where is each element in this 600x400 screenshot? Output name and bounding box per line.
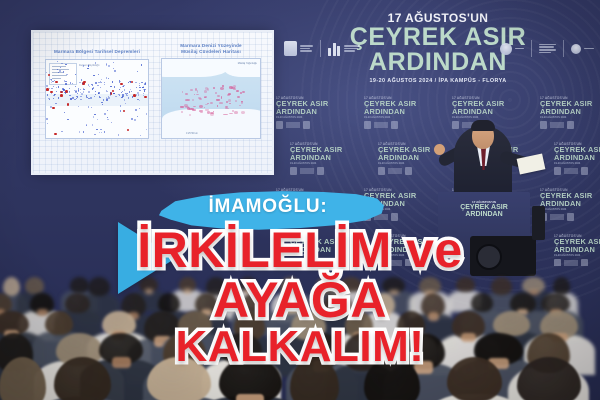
news-thumbnail-image: 17 AĞUSTOS'UNÇEYREK ASIRARDINDAN19-20 AĞ… xyxy=(0,0,600,400)
earthquake-point xyxy=(75,86,76,87)
earthquake-point xyxy=(108,97,109,98)
musilaj-point xyxy=(199,105,203,108)
earthquake-point xyxy=(104,84,105,85)
earthquake-point xyxy=(146,113,147,114)
earthquake-point xyxy=(101,132,102,133)
earthquake-point xyxy=(79,131,80,132)
backdrop-tile: 17 AĞUSTOS'UNÇEYREK ASIRARDINDAN19-20 AĞ… xyxy=(290,142,386,175)
earthquake-point xyxy=(112,90,115,93)
earthquake-point xyxy=(120,110,121,111)
earthquake-point xyxy=(135,109,136,110)
earthquake-point xyxy=(46,118,47,119)
earthquake-point xyxy=(94,96,95,97)
earthquake-point xyxy=(58,86,59,87)
earthquake-point xyxy=(124,89,125,90)
musilaj-point xyxy=(192,99,194,101)
earthquake-point xyxy=(131,91,132,92)
earthquake-point xyxy=(106,98,107,99)
earthquake-point xyxy=(59,70,60,71)
earthquake-point xyxy=(143,95,144,96)
earthquake-point xyxy=(110,86,111,87)
projection-screen: Marmara Bölgesi Tarihsel Depremleri Depr… xyxy=(33,32,272,173)
earthquake-point xyxy=(94,134,95,135)
musilaj-point xyxy=(241,111,245,114)
earthquake-point xyxy=(55,103,56,104)
musilaj-point xyxy=(234,111,238,114)
earthquake-point xyxy=(137,71,138,72)
earthquake-point xyxy=(124,99,125,100)
backdrop-tile: 17 AĞUSTOS'UNÇEYREK ASIRARDINDAN19-20 AĞ… xyxy=(276,96,372,129)
musilaj-point xyxy=(192,109,196,111)
musilaj-point xyxy=(204,90,207,93)
earthquake-point xyxy=(114,70,115,71)
ipa-logo xyxy=(284,41,313,56)
speaker-right-hand xyxy=(434,144,445,155)
headline-line2: AYAĞA xyxy=(0,276,600,326)
earthquake-point xyxy=(139,100,140,101)
earthquake-point xyxy=(118,94,119,95)
earthquake-point xyxy=(139,90,140,91)
cevre-logo xyxy=(571,44,594,54)
earthquake-point xyxy=(60,94,63,97)
musilaj-point xyxy=(217,95,220,97)
earthquake-point xyxy=(46,88,49,91)
musilaj-point xyxy=(198,97,202,99)
left-panel-title: Marmara Bölgesi Tarihsel Depremleri xyxy=(45,49,149,55)
earthquake-point xyxy=(134,119,135,120)
earthquake-point xyxy=(78,89,79,90)
earthquake-point xyxy=(63,71,64,72)
right-logo-group xyxy=(500,40,594,57)
earthquake-point xyxy=(120,81,121,82)
earthquake-point xyxy=(98,82,99,83)
earthquake-point xyxy=(80,99,81,100)
earthquake-point xyxy=(55,81,58,84)
historical-earthquakes-map: Deprem Büyüklüğü xyxy=(45,59,149,139)
earthquake-point xyxy=(122,91,123,92)
earthquake-point xyxy=(86,124,87,125)
earthquake-point xyxy=(54,94,55,95)
earthquake-point xyxy=(141,82,142,83)
earthquake-point xyxy=(94,114,95,115)
earthquake-point xyxy=(47,123,48,124)
earthquake-point xyxy=(106,99,107,100)
earthquake-point xyxy=(54,133,57,136)
earthquake-point xyxy=(58,97,59,98)
earthquake-point xyxy=(104,131,105,132)
earthquake-point xyxy=(61,63,62,64)
earthquake-point xyxy=(108,65,109,66)
marmara-belediyeler-birligi-logo xyxy=(328,41,360,56)
event-subtitle: 19-20 AĞUSTOS 2024 / İPA KAMPÜS - FLORYA xyxy=(276,78,600,84)
earthquake-point xyxy=(131,81,134,84)
earthquake-point xyxy=(88,98,89,99)
ibb-logo xyxy=(500,43,524,55)
earthquake-point xyxy=(120,87,121,88)
earthquake-point xyxy=(114,86,115,87)
earthquake-point xyxy=(46,85,47,86)
earthquake-point xyxy=(129,91,130,92)
earthquake-point xyxy=(127,129,130,132)
logo-divider xyxy=(320,40,321,57)
earthquake-point xyxy=(148,111,149,112)
earthquake-point xyxy=(95,91,96,92)
earthquake-point xyxy=(112,81,113,82)
logo-divider xyxy=(531,40,532,57)
right-panel-title-line2: Müsilaj Cüvdeleri Haritası xyxy=(161,49,261,55)
earthquake-point xyxy=(65,83,66,84)
earthquake-point xyxy=(90,97,91,98)
musilaj-point xyxy=(182,91,184,93)
map-note: Deprem Büyüklüğü xyxy=(79,64,99,67)
earthquake-point xyxy=(113,68,114,69)
earthquake-point xyxy=(52,81,53,82)
earthquake-point xyxy=(118,134,119,135)
logo-divider xyxy=(563,40,564,57)
earthquake-point xyxy=(131,118,132,119)
earthquake-point xyxy=(87,68,88,69)
earthquake-point xyxy=(107,110,108,111)
audience-member-neck xyxy=(236,394,264,400)
earthquake-point xyxy=(88,65,89,66)
earthquake-point xyxy=(101,82,102,83)
earthquake-point xyxy=(113,62,114,63)
headline-line3: KALKALIM! xyxy=(0,325,600,369)
earthquake-point xyxy=(104,82,105,83)
speaker-hair xyxy=(471,120,495,131)
earthquake-point xyxy=(100,129,101,130)
musilaj-point xyxy=(216,99,220,100)
earthquake-point xyxy=(61,91,62,92)
earthquake-point xyxy=(120,105,121,106)
earthquake-point xyxy=(106,77,107,78)
map-scale-label: 0 25 50 km xyxy=(186,132,198,135)
musilaj-point xyxy=(185,99,190,101)
earthquake-point xyxy=(98,92,99,93)
earthquake-point xyxy=(50,91,53,94)
earthquake-point xyxy=(97,85,98,86)
earthquake-point xyxy=(104,113,105,114)
earthquake-point xyxy=(138,94,139,95)
slide-left-panel: Marmara Bölgesi Tarihsel Depremleri Depr… xyxy=(45,49,149,139)
earthquake-point xyxy=(101,79,102,80)
earthquake-point xyxy=(51,88,52,89)
musilaj-point xyxy=(226,101,228,103)
earthquake-point xyxy=(144,90,145,91)
earthquake-point xyxy=(99,96,100,97)
earthquake-point xyxy=(145,83,146,84)
earthquake-point xyxy=(135,82,136,83)
earthquake-point xyxy=(106,63,107,64)
earthquake-point xyxy=(91,107,92,108)
earthquake-point xyxy=(120,83,123,86)
headline-line1: İRKİLELİM ve xyxy=(0,226,600,276)
earthquake-point xyxy=(106,91,107,92)
earthquake-point xyxy=(95,62,96,63)
earthquake-point xyxy=(99,132,100,133)
earthquake-point xyxy=(133,94,136,97)
backdrop-tile: 17 AĞUSTOS'UNÇEYREK ASIRARDINDAN19-20 AĞ… xyxy=(554,142,600,175)
earthquake-point xyxy=(81,79,82,80)
earthquake-point xyxy=(76,96,77,97)
earthquake-point xyxy=(107,119,108,120)
earthquake-point xyxy=(79,82,80,83)
musilaj-point xyxy=(228,93,231,95)
musilaj-point xyxy=(205,87,209,90)
musilaj-point xyxy=(199,110,203,112)
earthquake-point xyxy=(78,106,79,107)
earthquake-point xyxy=(139,108,140,109)
musilaj-point xyxy=(207,111,210,113)
musilaj-point xyxy=(225,108,229,109)
earthquake-point xyxy=(83,88,84,89)
earthquake-point xyxy=(48,98,49,99)
earthquake-point xyxy=(46,72,47,73)
earthquake-point xyxy=(98,74,99,75)
earthquake-point xyxy=(72,97,73,98)
earthquake-point xyxy=(62,88,63,89)
slide-right-panel: Marmara Denizi Yüzeyinde Müsilaj Cüvdele… xyxy=(161,43,261,139)
earthquake-point xyxy=(61,131,62,132)
earthquake-point xyxy=(146,129,147,130)
musilaj-density-map: Müsilaj Yoğunluğu 0 25 50 km xyxy=(161,58,261,139)
musilaj-point xyxy=(185,93,187,95)
earthquake-point xyxy=(77,93,78,94)
earthquake-point xyxy=(64,112,65,113)
earthquake-point xyxy=(148,128,149,131)
earthquake-point xyxy=(49,88,50,89)
musilaj-point xyxy=(229,86,234,89)
earthquake-point xyxy=(80,96,81,97)
earthquake-point xyxy=(115,96,116,97)
earthquake-point xyxy=(92,124,93,125)
musilaj-point xyxy=(205,109,209,111)
earthquake-point xyxy=(123,86,124,87)
earthquake-point xyxy=(95,82,96,83)
earthquake-point xyxy=(67,119,68,120)
earthquake-point xyxy=(93,87,94,88)
earthquake-point xyxy=(139,87,140,88)
earthquake-point xyxy=(88,106,89,107)
earthquake-point xyxy=(137,116,138,117)
istanbul-planlama-ajansi-logo xyxy=(539,44,556,54)
earthquake-point xyxy=(130,89,131,90)
headline-overlay: İRKİLELİM ve AYAĞA KALKALIM! xyxy=(0,226,600,369)
earthquake-point xyxy=(108,78,109,79)
earthquake-point xyxy=(119,89,120,90)
earthquake-point xyxy=(100,87,101,88)
earthquake-point xyxy=(66,74,67,75)
musilaj-point xyxy=(210,102,213,104)
earthquake-point xyxy=(92,84,93,85)
left-logo-group xyxy=(284,40,360,57)
earthquake-point xyxy=(140,135,141,136)
earthquake-point xyxy=(89,86,90,87)
earthquake-point xyxy=(74,99,75,100)
earthquake-point xyxy=(52,107,55,110)
earthquake-point xyxy=(83,81,86,84)
event-branding-header: 17 AĞUSTOS'UN ÇEYREK ASIR ARDINDAN 19-20… xyxy=(276,0,600,96)
earthquake-point xyxy=(56,91,57,92)
earthquake-point xyxy=(70,82,71,83)
earthquake-point xyxy=(88,91,89,92)
earthquake-point xyxy=(47,94,48,95)
earthquake-point xyxy=(111,122,112,123)
earthquake-point xyxy=(81,93,82,94)
earthquake-point xyxy=(53,86,54,87)
map-corner-label: Müsilaj Yoğunluğu xyxy=(238,62,257,65)
earthquake-point xyxy=(110,94,111,95)
earthquake-point xyxy=(83,131,84,132)
earthquake-point xyxy=(93,116,94,117)
earthquake-point xyxy=(93,75,94,76)
earthquake-point xyxy=(96,129,97,130)
earthquake-point xyxy=(107,117,108,118)
speaker-label: İMAMOĞLU: xyxy=(152,196,384,218)
earthquake-point xyxy=(69,88,70,89)
earthquake-point xyxy=(106,90,107,91)
earthquake-point xyxy=(97,119,98,120)
earthquake-point xyxy=(123,110,126,113)
earthquake-point xyxy=(136,94,137,95)
earthquake-point xyxy=(141,64,142,65)
earthquake-point xyxy=(136,87,137,88)
earthquake-point xyxy=(80,89,81,90)
